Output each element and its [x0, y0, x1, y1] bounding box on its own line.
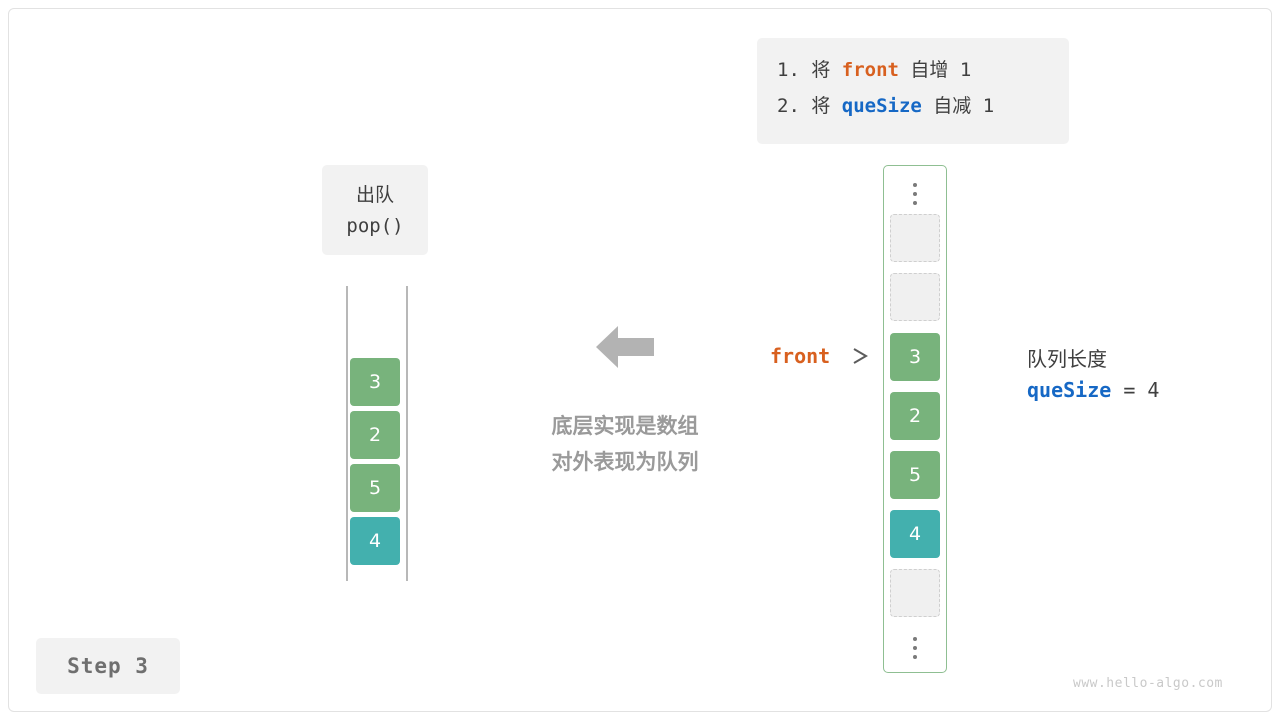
center-caption: 底层实现是数组 对外表现为队列 [500, 408, 750, 480]
queue-length-label: 队列长度 [1027, 343, 1107, 372]
operation-note-box: 1. 将 front 自增 1 2. 将 queSize 自减 1 [757, 38, 1069, 144]
left-queue-rail-left [346, 286, 348, 581]
left-queue-cell-3: 4 [350, 517, 400, 565]
array-cell-4-value: 5 [909, 464, 921, 486]
array-cell-3: 2 [890, 392, 940, 440]
diagram-canvas: 1. 将 front 自增 1 2. 将 queSize 自减 1 出队 pop… [0, 0, 1280, 720]
note-line-2: 2. 将 queSize 自减 1 [777, 88, 1049, 124]
note-line-1-keyword: front [842, 59, 899, 81]
left-queue-cell-3-value: 4 [369, 530, 381, 552]
left-queue-cell-0: 3 [350, 358, 400, 406]
caption-line-2: 对外表现为队列 [500, 444, 750, 480]
pop-title: 出队 [322, 180, 428, 211]
array-bottom-ellipsis-icon [883, 632, 947, 664]
left-queue-cell-2: 5 [350, 464, 400, 512]
caption-line-1: 底层实现是数组 [500, 408, 750, 444]
note-line-2-keyword: queSize [842, 95, 922, 117]
front-pointer-label: front [770, 344, 830, 368]
array-cell-5: 4 [890, 510, 940, 558]
left-queue-cell-0-value: 3 [369, 371, 381, 393]
array-cell-2: 3 [890, 333, 940, 381]
left-queue-cell-1-value: 2 [369, 424, 381, 446]
front-pointer-arrow-icon [852, 347, 874, 365]
left-queue-cell-1: 2 [350, 411, 400, 459]
quesize-expression: queSize = 4 [1027, 378, 1159, 402]
array-top-ellipsis-icon [883, 178, 947, 210]
array-cell-4: 5 [890, 451, 940, 499]
step-badge: Step 3 [36, 638, 180, 694]
array-cell-6 [890, 569, 940, 617]
quesize-value: = 4 [1111, 378, 1159, 402]
note-line-2-prefix: 2. 将 [777, 95, 842, 117]
left-queue-cell-2-value: 5 [369, 477, 381, 499]
left-queue-rail-right [406, 286, 408, 581]
quesize-keyword: queSize [1027, 378, 1111, 402]
watermark: www.hello-algo.com [1073, 676, 1223, 691]
step-badge-label: Step 3 [67, 654, 149, 678]
note-line-1-prefix: 1. 将 [777, 59, 842, 81]
array-cell-0 [890, 214, 940, 262]
array-cell-5-value: 4 [909, 523, 921, 545]
note-line-1-suffix: 自增 1 [899, 59, 971, 81]
dequeue-arrow-icon [596, 323, 654, 371]
array-cell-3-value: 2 [909, 405, 921, 427]
array-cell-1 [890, 273, 940, 321]
pop-code: pop() [322, 211, 428, 242]
note-line-1: 1. 将 front 自增 1 [777, 52, 1049, 88]
array-cell-2-value: 3 [909, 346, 921, 368]
pop-operation-box: 出队 pop() [322, 165, 428, 255]
note-line-2-suffix: 自减 1 [922, 95, 994, 117]
